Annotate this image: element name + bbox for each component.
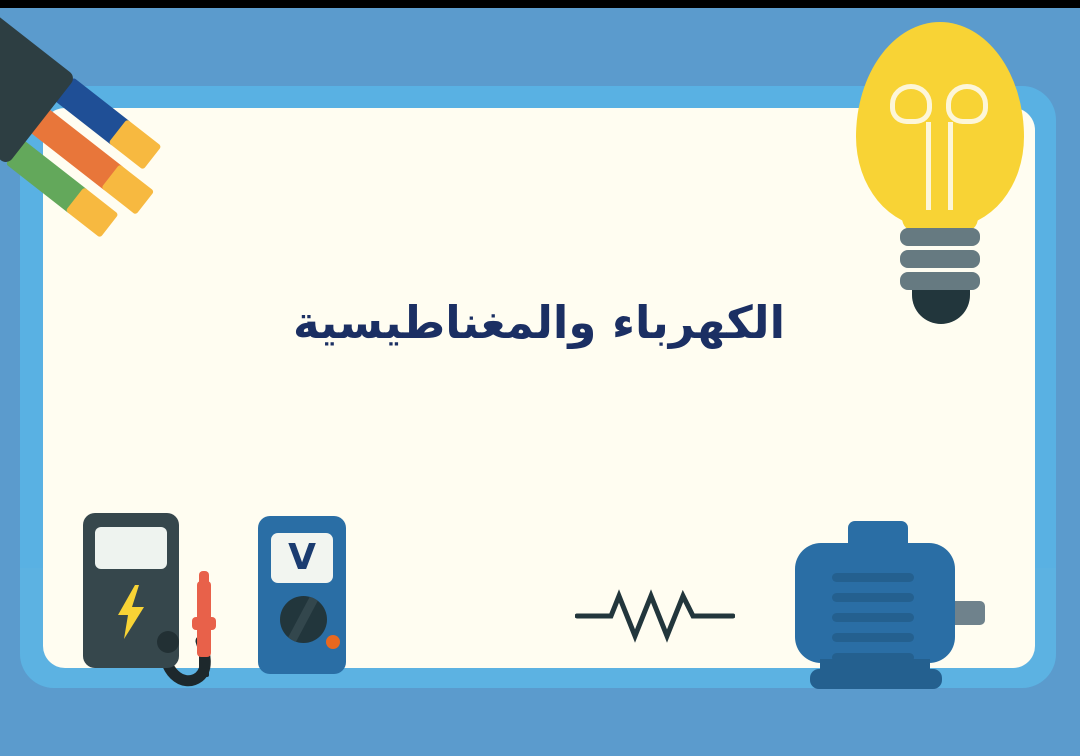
motor-cooling-fin [832,633,914,642]
bulb-filament [888,84,992,214]
lightning-bolt-icon [115,585,147,639]
motor-cooling-fin [832,613,914,622]
voltmeter: V [258,516,346,676]
motor-shaft [953,601,985,625]
motor-base [810,669,942,689]
voltmeter-knob [280,596,327,643]
filament-loop-left [890,84,932,124]
three-conductor-cable [0,8,290,282]
bulb-screw-segment [900,272,980,290]
bulb-screw-segment [900,228,980,246]
test-probe [195,571,213,657]
cable-graphic [0,8,290,282]
multimeter-jack [157,631,179,653]
voltmeter-led [326,635,340,649]
filament-loop-right [946,84,988,124]
probe-guard [192,617,216,630]
multimeter-display [95,527,167,569]
motor-cooling-fin [832,573,914,582]
probe-tip [199,571,209,587]
resistor-graphic [575,586,735,646]
motor-cooling-fin [832,593,914,602]
bulb-screw-segment [900,250,980,268]
multimeter [83,513,223,693]
letterbox-top-bar [0,0,1080,8]
light-bulb [856,22,1030,312]
slide-canvas: الكهرباء والمغناطيسية [0,0,1080,756]
knob-slot [284,596,320,643]
resistor-symbol [575,586,735,646]
electric-motor [790,521,1005,691]
slide-backdrop: الكهرباء والمغناطيسية [0,8,1080,756]
filament-stem-right [948,122,953,210]
motor-body [795,543,955,663]
voltmeter-display-value: V [271,533,333,583]
filament-stem-left [926,122,931,210]
